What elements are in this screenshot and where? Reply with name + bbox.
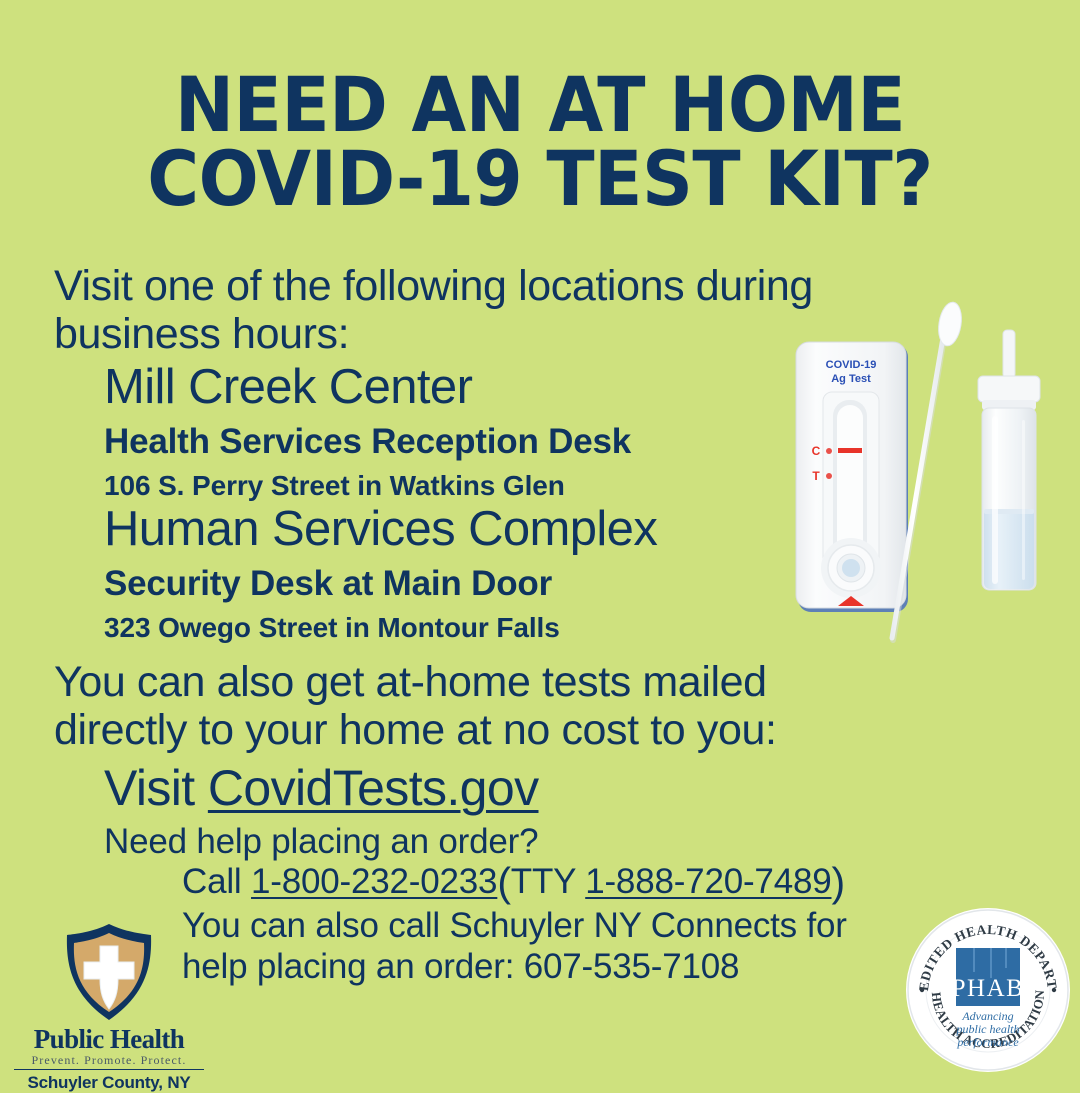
- headline-line-2: COVID-19 TEST KIT?: [38, 142, 1042, 216]
- call-line: Call 1-800-232-0233(TTY 1-888-720-7489): [182, 862, 845, 901]
- test-marker: T: [812, 469, 820, 483]
- phab-accreditation-seal: ACCREDITED HEALTH DEPARTMENT PUBLIC HEAL…: [904, 906, 1072, 1074]
- ny-connects-line-1: You can also call Schuyler NY Connects f…: [182, 905, 972, 946]
- reagent-tube: [978, 330, 1040, 590]
- ny-connects-line-2: help placing an order: 607-535-7108: [182, 946, 972, 987]
- mail-order-line-2: directly to your home at no cost to you:: [54, 706, 934, 754]
- cassette-label-line-1: COVID-19: [826, 359, 877, 371]
- location-name: Human Services Complex: [104, 504, 844, 555]
- phab-tagline-line-1: Advancing: [961, 1009, 1013, 1023]
- phab-tagline-line-2: public health: [956, 1022, 1020, 1036]
- location-address: 106 S. Perry Street in Watkins Glen: [104, 469, 824, 503]
- phone-tty[interactable]: 1-888-720-7489: [585, 862, 831, 901]
- public-health-title: Public Health: [14, 1026, 204, 1053]
- tty-label: TTY: [511, 862, 585, 901]
- phab-seal-svg: ACCREDITED HEALTH DEPARTMENT PUBLIC HEAL…: [904, 906, 1072, 1074]
- public-health-tagline: Prevent. Promote. Protect.: [14, 1053, 204, 1070]
- ny-connects-text: You can also call Schuyler NY Connects f…: [182, 905, 972, 988]
- headline-line-1: NEED AN AT HOME: [38, 68, 1042, 142]
- control-marker: C: [812, 444, 821, 458]
- public-health-wordmark: Public Health Prevent. Promote. Protect.…: [14, 1026, 204, 1093]
- control-line-indicator: [838, 448, 862, 453]
- location-human-services-complex: Human Services Complex Security Desk at …: [104, 504, 844, 644]
- phab-tagline-line-3: performance: [956, 1035, 1019, 1049]
- mail-order-text: You can also get at-home tests mailed di…: [54, 658, 934, 754]
- location-name: Mill Creek Center: [104, 362, 824, 413]
- mail-order-line-1: You can also get at-home tests mailed: [54, 658, 934, 706]
- tty-close-paren: ): [832, 859, 845, 905]
- location-desk: Security Desk at Main Door: [104, 563, 844, 604]
- call-prefix: Call: [182, 862, 251, 901]
- public-health-logo: Public Health Prevent. Promote. Protect.…: [14, 920, 204, 1093]
- location-desk: Health Services Reception Desk: [104, 421, 824, 462]
- phone-main[interactable]: 1-800-232-0233: [251, 862, 497, 901]
- test-kit-illustration: COVID-19 Ag Test C T: [770, 300, 1070, 660]
- public-health-shield-svg: [57, 920, 161, 1024]
- test-cassette: COVID-19 Ag Test C T: [796, 342, 908, 612]
- cassette-label-line-2: Ag Test: [831, 373, 871, 385]
- location-address: 323 Owego Street in Montour Falls: [104, 611, 844, 645]
- location-mill-creek-center: Mill Creek Center Health Services Recept…: [104, 362, 824, 502]
- shield-icon: [14, 920, 204, 1024]
- covidtests-gov-link[interactable]: CovidTests.gov: [208, 760, 539, 816]
- phab-acronym: PHAB: [952, 975, 1025, 1002]
- tty-open-paren: (: [497, 859, 510, 905]
- test-kit-svg: COVID-19 Ag Test C T: [770, 300, 1070, 660]
- visit-website-line: Visit CovidTests.gov: [104, 762, 539, 815]
- public-health-county: Schuyler County, NY: [14, 1073, 204, 1093]
- flyer-canvas: NEED AN AT HOME COVID-19 TEST KIT? Visit…: [0, 0, 1080, 1080]
- page-title: NEED AN AT HOME COVID-19 TEST KIT?: [38, 68, 1042, 217]
- help-prompt: Need help placing an order?: [104, 822, 538, 861]
- visit-prefix: Visit: [104, 760, 208, 816]
